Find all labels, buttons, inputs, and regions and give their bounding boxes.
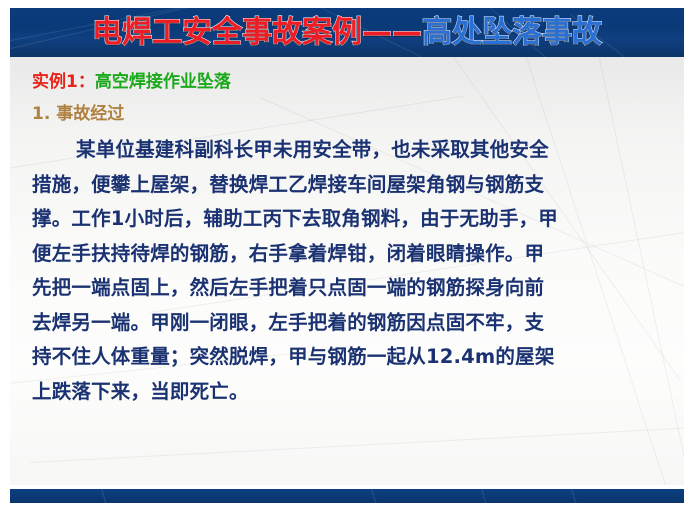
paragraph-line: 持不住人体重量；突然脱焊，甲与钢筋一起从12.4m的屋架 <box>32 340 666 375</box>
paragraph-line: 某单位基建科副科长甲未用安全带，也未采取其他安全 <box>32 133 666 168</box>
paragraph-line: 上跌落下来，当即死亡。 <box>32 375 666 410</box>
slide-body-panel: 实例1：高空焊接作业坠落 1. 事故经过 某单位基建科副科长甲未用安全带，也未采… <box>10 57 684 485</box>
footer-streak-decoration <box>370 489 377 503</box>
slide-title-primary: 电焊工安全事故案例 <box>92 15 362 50</box>
example-colon: ： <box>78 72 95 92</box>
slide-title-dash: —— <box>362 15 422 50</box>
example-heading: 实例1：高空焊接作业坠落 <box>32 73 666 92</box>
slide-root: 电焊工安全事故案例——高处坠落事故 实例1：高空焊接作业坠落 1. 事故经过 某… <box>0 0 694 518</box>
paragraph-line: 便左手扶持待焊的钢筋，右手拿着焊钳，闭着眼睛操作。甲 <box>32 237 666 272</box>
paragraph-line: 措施，便攀上屋架，替换焊工乙焊接车间屋架角钢与钢筋支 <box>32 168 666 203</box>
footer-streak-decoration <box>480 489 487 503</box>
slide-title: 电焊工安全事故案例——高处坠落事故 <box>10 18 684 48</box>
accident-narrative-paragraph: 某单位基建科副科长甲未用安全带，也未采取其他安全 措施，便攀上屋架，替换焊工乙焊… <box>32 133 666 409</box>
section-heading: 1. 事故经过 <box>32 105 666 124</box>
slide-header-band: 电焊工安全事故案例——高处坠落事故 <box>10 8 684 57</box>
slide-content: 实例1：高空焊接作业坠落 1. 事故经过 某单位基建科副科长甲未用安全带，也未采… <box>10 57 684 409</box>
slide-title-secondary: 高处坠落事故 <box>422 15 602 50</box>
paragraph-line: 先把一端点固上，然后左手把着只点固一端的钢筋探身向前 <box>32 271 666 306</box>
paragraph-line: 撑。工作1小时后，辅助工丙下去取角钢料，由于无助手，甲 <box>32 202 666 237</box>
example-title: 高空焊接作业坠落 <box>95 72 231 92</box>
footer-streak-decoration <box>570 489 577 503</box>
footer-streak-decoration <box>100 489 107 503</box>
paragraph-line: 去焊另一端。甲刚一闭眼，左手把着的钢筋因点固不牢，支 <box>32 306 666 341</box>
example-label: 实例1 <box>32 72 78 92</box>
slide-footer-bar <box>10 489 684 503</box>
background-streak-decoration <box>30 425 684 463</box>
